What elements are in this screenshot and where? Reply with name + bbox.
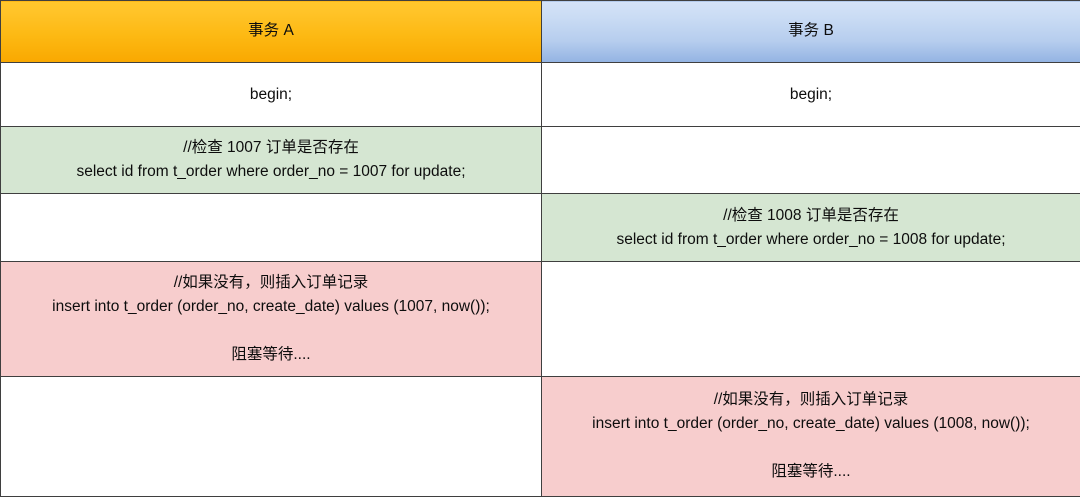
cell-line: begin; xyxy=(9,83,533,107)
table-row: //如果没有，则插入订单记录 insert into t_order (orde… xyxy=(1,262,1080,376)
cell-line-sql: insert into t_order (order_no, create_da… xyxy=(550,412,1072,436)
cell-line-blocking: 阻塞等待.... xyxy=(9,343,533,367)
cell-line-spacer xyxy=(550,436,1072,460)
table-row: begin; begin; xyxy=(1,63,1080,127)
cell-line-sql: select id from t_order where order_no = … xyxy=(550,228,1072,252)
table-header-row: 事务 A 事务 B xyxy=(1,1,1080,63)
cell-b-empty-2 xyxy=(542,262,1080,376)
column-header-transaction-b: 事务 B xyxy=(542,1,1080,63)
cell-line-comment: //检查 1008 订单是否存在 xyxy=(550,204,1072,228)
cell-line-sql: select id from t_order where order_no = … xyxy=(9,160,533,184)
table-row: //检查 1008 订单是否存在 select id from t_order … xyxy=(1,194,1080,262)
table-row: //如果没有，则插入订单记录 insert into t_order (orde… xyxy=(1,376,1080,496)
table-row: //检查 1007 订单是否存在 select id from t_order … xyxy=(1,127,1080,194)
cell-a-begin: begin; xyxy=(1,63,542,127)
cell-a-insert-1007: //如果没有，则插入订单记录 insert into t_order (orde… xyxy=(1,262,542,376)
cell-line-blocking: 阻塞等待.... xyxy=(550,460,1072,484)
cell-b-select-1008: //检查 1008 订单是否存在 select id from t_order … xyxy=(542,194,1080,262)
cell-b-begin: begin; xyxy=(542,63,1080,127)
cell-line: begin; xyxy=(550,83,1072,107)
cell-line-spacer xyxy=(9,319,533,343)
transaction-comparison-table: 事务 A 事务 B begin; begin; //检查 1007 订单是否存在… xyxy=(0,0,1080,497)
cell-line-comment: //如果没有，则插入订单记录 xyxy=(9,271,533,295)
cell-a-select-1007: //检查 1007 订单是否存在 select id from t_order … xyxy=(1,127,542,194)
cell-line-sql: insert into t_order (order_no, create_da… xyxy=(9,295,533,319)
cell-b-insert-1008: //如果没有，则插入订单记录 insert into t_order (orde… xyxy=(542,376,1080,496)
cell-line-comment: //检查 1007 订单是否存在 xyxy=(9,136,533,160)
cell-b-empty-1 xyxy=(542,127,1080,194)
cell-a-empty-2 xyxy=(1,376,542,496)
column-header-transaction-a: 事务 A xyxy=(1,1,542,63)
cell-a-empty-1 xyxy=(1,194,542,262)
cell-line-comment: //如果没有，则插入订单记录 xyxy=(550,388,1072,412)
